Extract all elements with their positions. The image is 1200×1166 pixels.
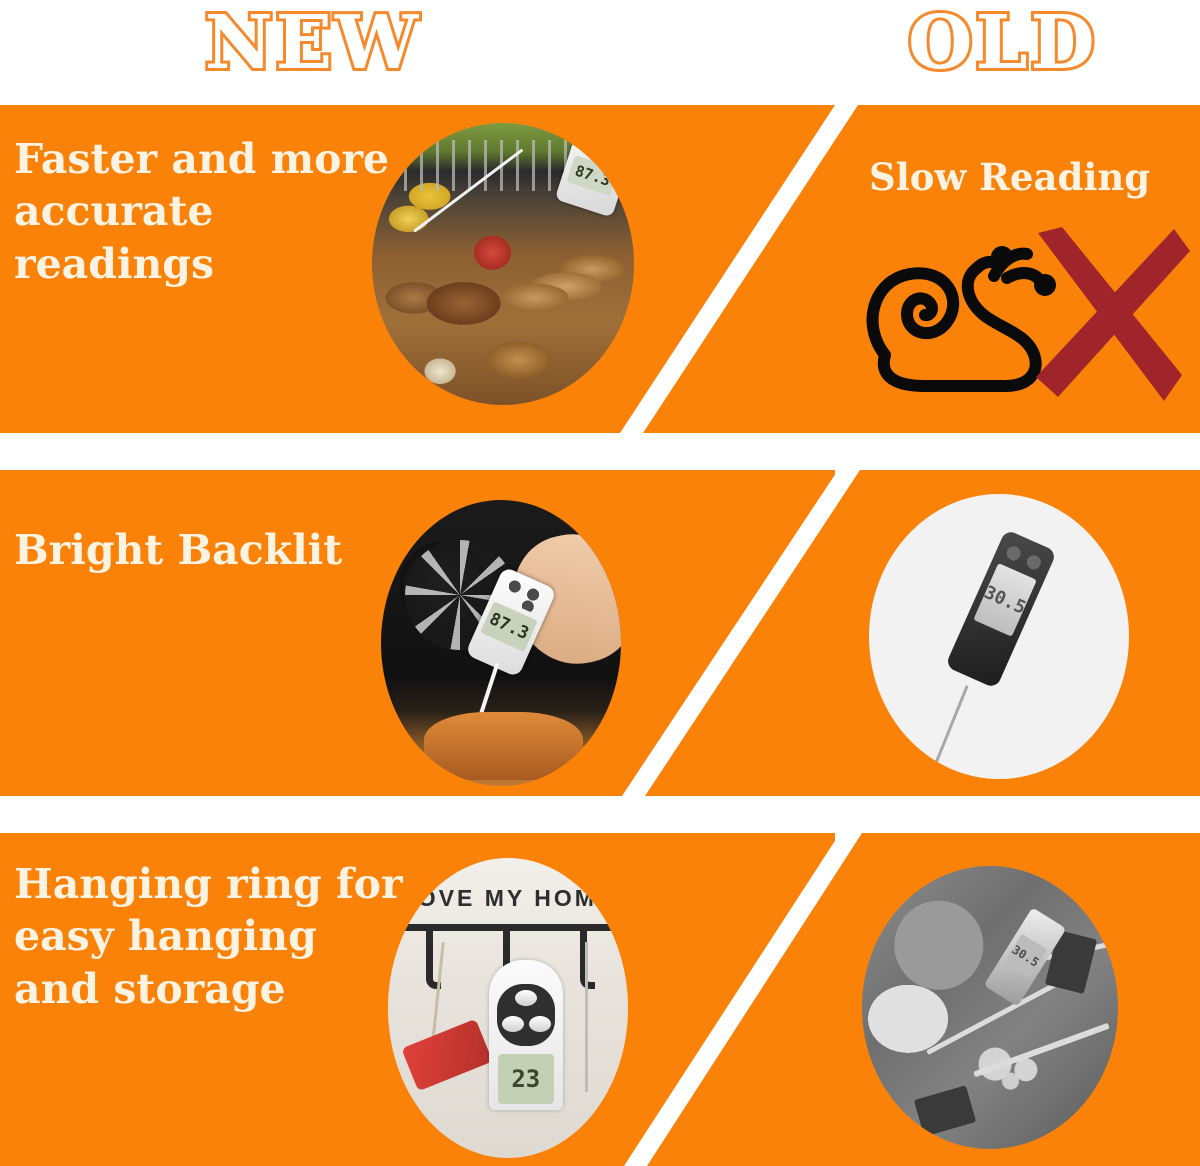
- old-thermometer-reading: 30.5: [973, 563, 1037, 637]
- comparison-row-2: Bright Backlit 87.3 30.5: [0, 470, 1200, 796]
- old-black-thermometer-photo: 30.5: [869, 494, 1129, 779]
- new-feature-text-1: Faster and more accurate readings: [14, 133, 434, 290]
- red-x-mark: [1022, 225, 1192, 405]
- new-feature-text-3: Hanging ring for easy hanging and storag…: [14, 858, 444, 1015]
- probe-needle: [928, 685, 968, 779]
- header: NEW OLD: [0, 0, 1200, 105]
- page-title-new: NEW: [205, 6, 421, 80]
- new-feature-text-2: Bright Backlit: [14, 524, 494, 576]
- comparison-row-1: Faster and more accurate readings 87.3 S…: [0, 105, 1200, 433]
- page-title-old: OLD: [908, 6, 1098, 80]
- red-clip: [401, 1019, 492, 1092]
- hanging-thermometer-device: 23: [489, 960, 563, 1110]
- comparison-row-3: Hanging ring for easy hanging and storag…: [0, 833, 1200, 1166]
- old-feature-text-1: Slow Reading: [869, 155, 1150, 199]
- old-thermometer-reading: 30.5: [1004, 934, 1047, 979]
- button: [529, 1016, 551, 1032]
- old-thermometer-device: 30.5: [945, 529, 1057, 689]
- grilled-food: [424, 712, 582, 781]
- hanging-cord: [585, 942, 588, 1092]
- button: [502, 1016, 524, 1032]
- thermometer-buttons: [497, 984, 555, 1046]
- button: [515, 990, 537, 1006]
- metal-rod: [973, 1023, 1110, 1078]
- thermometer-reading: 23: [498, 1054, 554, 1104]
- tool-block: [914, 1086, 976, 1137]
- cluttered-drawer-photo: 30.5: [862, 866, 1118, 1149]
